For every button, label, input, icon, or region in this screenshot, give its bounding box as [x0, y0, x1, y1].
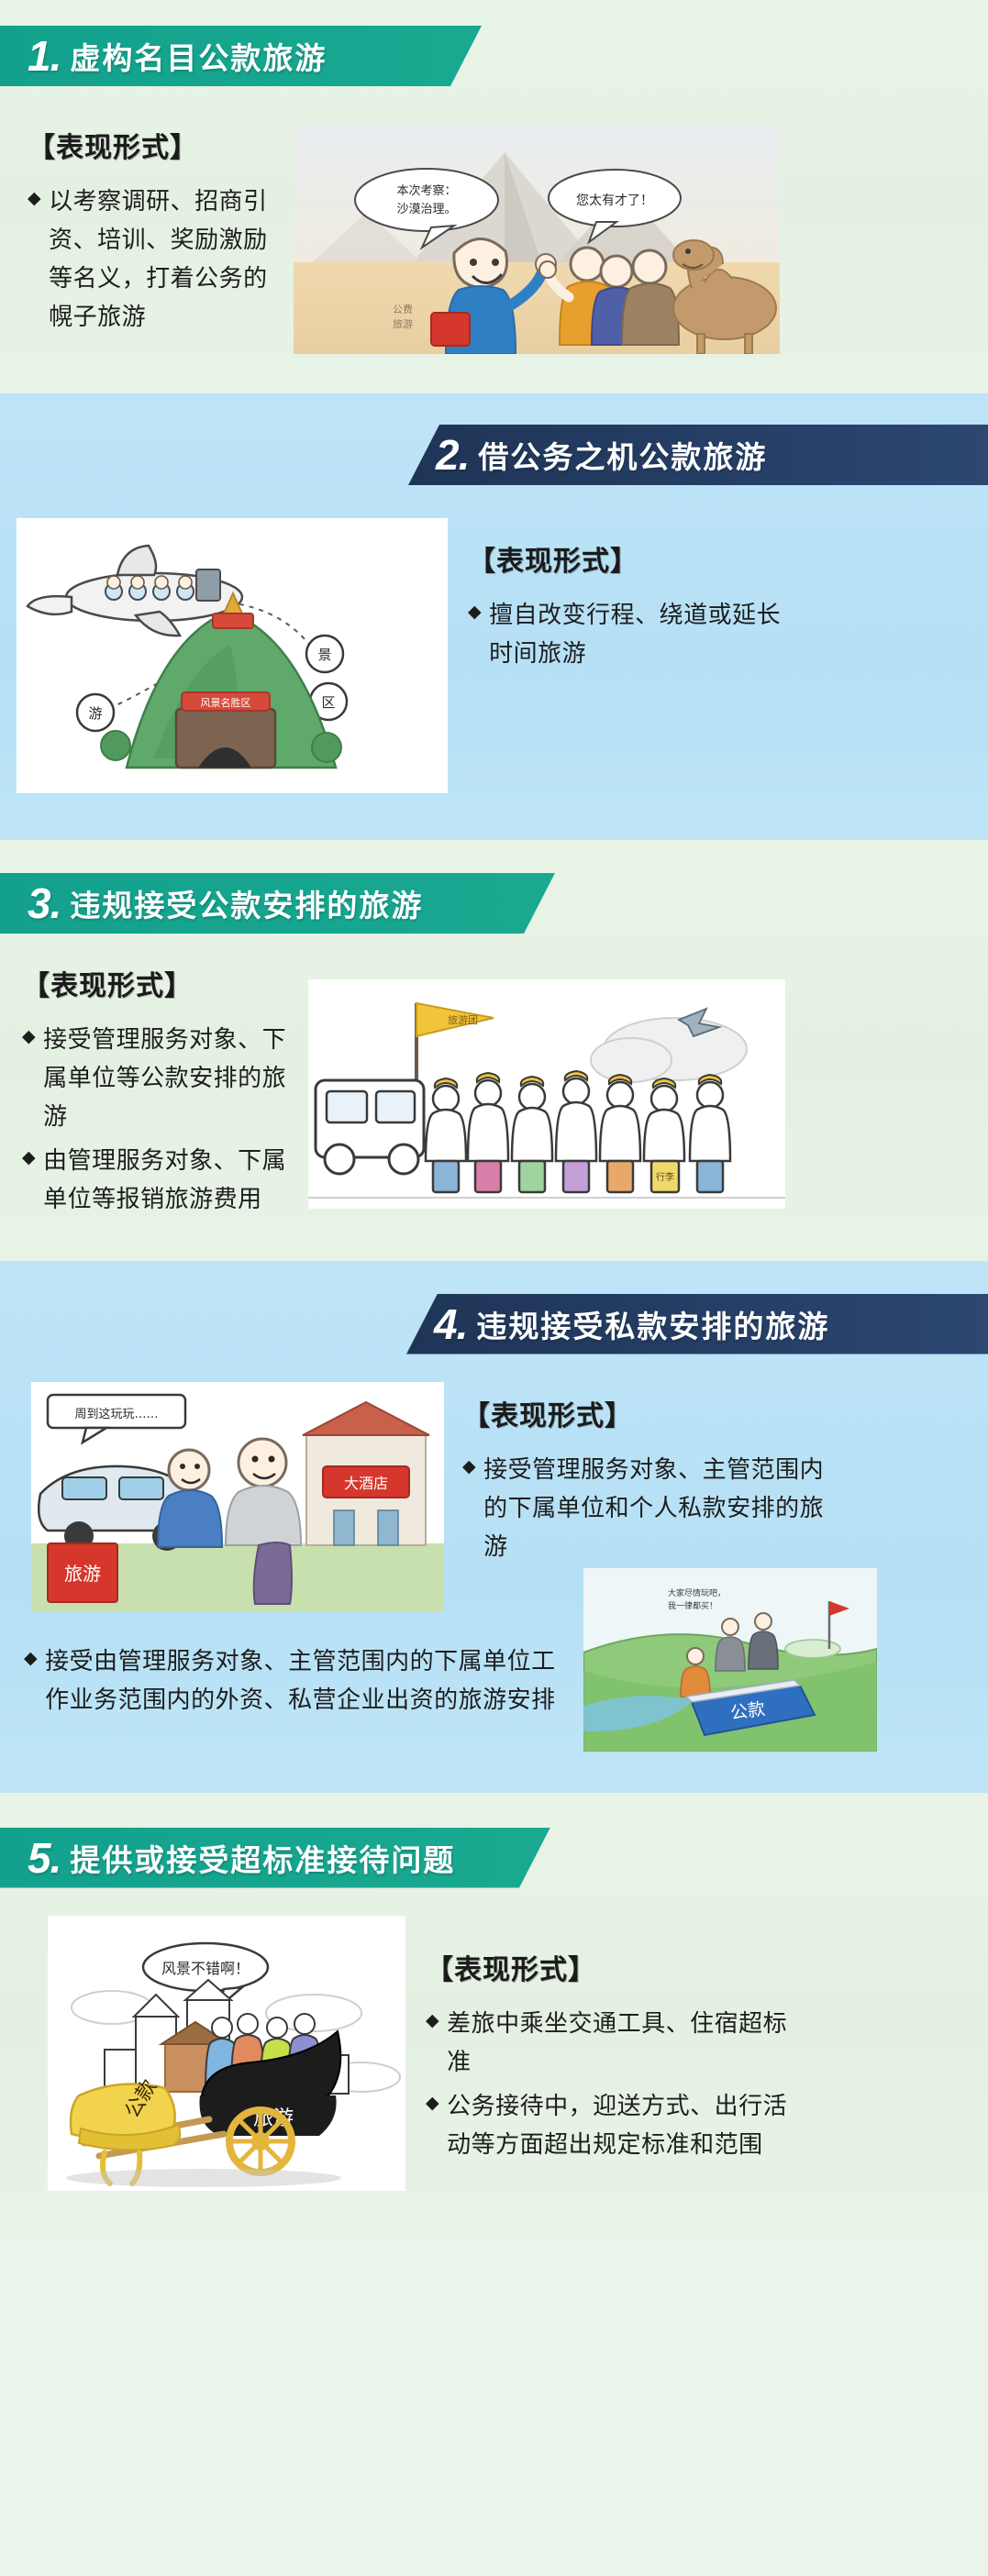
- banner-wrap-2: 2. 借公务之机公款旅游: [0, 393, 988, 485]
- section-5-bullet-text-0: 差旅中乘坐交通工具、住宿超标准: [447, 2004, 800, 2081]
- gold-ingot-rickshaw-cartoon: 风景不错啊！: [48, 1916, 405, 2191]
- section-5-banner: 5. 提供或接受超标准接待问题: [0, 1828, 550, 1888]
- banner-wrap-4: 4. 违规接受私款安排的旅游: [0, 1261, 988, 1354]
- section-1-illustration: 本次考察： 沙漠治理。 您太有才了！: [294, 125, 780, 359]
- section-4-content-bottom: ◆ 接受由管理服务对象、主管范围内的下属单位工作业务范围内的外资、私营企业出资的…: [0, 1616, 988, 1756]
- section-3-bullet-0: ◆ 接受管理服务对象、下属单位等公款安排的旅游: [22, 1020, 303, 1135]
- svg-text:旅游: 旅游: [64, 1563, 101, 1585]
- section-4-bullet-1: ◆ 接受由管理服务对象、主管范围内的下属单位工作业务范围内的外资、私营企业出资的…: [24, 1642, 574, 1719]
- section-3: 3. 违规接受公款安排的旅游 【表现形式】 ◆ 接受管理服务对象、下属单位等公款…: [0, 840, 988, 1261]
- section-5-bullet-1: ◆ 公务接待中，迎送方式、出行活动等方面超出规定标准和范围: [426, 2086, 800, 2163]
- section-3-heading: 【表现形式】: [22, 963, 303, 1003]
- section-2-title: 借公务之机公款旅游: [478, 433, 767, 477]
- svg-text:行李: 行李: [656, 1171, 674, 1183]
- diamond-bullet-icon: ◆: [24, 1642, 38, 1719]
- section-3-content: 【表现形式】 ◆ 接受管理服务对象、下属单位等公款安排的旅游 ◆ 由管理服务对象…: [0, 934, 988, 1224]
- svg-text:大家尽情玩吧，: 大家尽情玩吧，: [668, 1587, 726, 1598]
- section-1-content: 【表现形式】 ◆ 以考察调研、招商引资、培训、奖励激励等名义，打着公务的幌子旅游: [0, 86, 988, 359]
- section-2-number: 2.: [436, 434, 469, 476]
- section-3-illustration: 旅游团: [303, 963, 785, 1213]
- section-1-banner: 1. 虚构名目公款旅游: [0, 26, 482, 86]
- section-2-bullet-0: ◆ 擅自改变行程、绕道或延长时间旅游: [468, 595, 796, 672]
- section-2-heading: 【表现形式】: [468, 538, 796, 579]
- section-1-text: 【表现形式】 ◆ 以考察调研、招商引资、培训、奖励激励等名义，打着公务的幌子旅游: [0, 125, 284, 341]
- section-2: 2. 借公务之机公款旅游: [0, 393, 988, 840]
- section-5-bullet-0: ◆ 差旅中乘坐交通工具、住宿超标准: [426, 2004, 800, 2081]
- section-3-text: 【表现形式】 ◆ 接受管理服务对象、下属单位等公款安排的旅游 ◆ 由管理服务对象…: [0, 963, 303, 1224]
- section-1-title: 虚构名目公款旅游: [70, 34, 327, 78]
- section-4-title: 违规接受私款安排的旅游: [476, 1302, 829, 1346]
- svg-text:旅游: 旅游: [393, 317, 413, 330]
- banner-wrap-1: 1. 虚构名目公款旅游: [0, 0, 988, 86]
- section-5-heading: 【表现形式】: [426, 1947, 800, 1987]
- section-2-banner: 2. 借公务之机公款旅游: [408, 425, 988, 485]
- section-3-banner: 3. 违规接受公款安排的旅游: [0, 873, 555, 934]
- section-4-text-bottom: ◆ 接受由管理服务对象、主管范围内的下属单位工作业务范围内的外资、私营企业出资的…: [24, 1642, 574, 1724]
- section-1-number: 1.: [28, 35, 61, 77]
- svg-text:本次考察：: 本次考察：: [396, 183, 456, 198]
- section-1-bullet-0: ◆ 以考察调研、招商引资、培训、奖励激励等名义，打着公务的幌子旅游: [28, 182, 284, 336]
- section-5-illustration: 风景不错啊！: [0, 1916, 405, 2195]
- svg-text:公费: 公费: [393, 304, 413, 315]
- svg-text:风景名胜区: 风景名胜区: [201, 696, 251, 709]
- section-3-bullet-1: ◆ 由管理服务对象、下属单位等报销旅游费用: [22, 1141, 303, 1218]
- section-3-bullet-text-0: 接受管理服务对象、下属单位等公款安排的旅游: [43, 1020, 303, 1135]
- diamond-bullet-icon: ◆: [28, 182, 41, 336]
- diamond-bullet-icon: ◆: [22, 1141, 36, 1218]
- infographic-page: 1. 虚构名目公款旅游 【表现形式】 ◆ 以考察调研、招商引资、培训、奖励激励等…: [0, 0, 988, 2241]
- section-5-content: 风景不错啊！: [0, 1888, 988, 2195]
- section-3-number: 3.: [28, 882, 61, 924]
- section-2-illustration: 景 区 游 风景名胜区: [0, 518, 448, 798]
- svg-text:周到这玩玩……: 周到这玩玩……: [74, 1407, 158, 1421]
- svg-text:风景不错啊！: 风景不错啊！: [161, 1960, 250, 1977]
- section-5-number: 5.: [28, 1837, 61, 1879]
- section-2-content: 景 区 游 风景名胜区: [0, 485, 988, 798]
- section-5-text: 【表现形式】 ◆ 差旅中乘坐交通工具、住宿超标准 ◆ 公务接待中，迎送方式、出行…: [405, 1916, 800, 2169]
- banner-wrap-5: 5. 提供或接受超标准接待问题: [0, 1793, 988, 1888]
- svg-text:沙漠治理。: 沙漠治理。: [396, 203, 456, 216]
- section-5: 5. 提供或接受超标准接待问题 风景不错啊！: [0, 1793, 988, 2241]
- section-4-heading: 【表现形式】: [462, 1393, 829, 1433]
- section-1: 1. 虚构名目公款旅游 【表现形式】 ◆ 以考察调研、招商引资、培训、奖励激励等…: [0, 0, 988, 393]
- airplane-mountain-cartoon: 景 区 游 风景名胜区: [17, 518, 448, 793]
- section-1-bullet-text-0: 以考察调研、招商引资、培训、奖励激励等名义，打着公务的幌子旅游: [49, 182, 284, 336]
- section-2-bullet-text-0: 擅自改变行程、绕道或延长时间旅游: [489, 595, 796, 672]
- svg-text:旅游团: 旅游团: [448, 1013, 478, 1026]
- diamond-bullet-icon: ◆: [462, 1450, 476, 1565]
- section-4-illustration-bottom: 大家尽情玩吧， 我一律都买！: [583, 1568, 877, 1756]
- section-4-illustration-top: 周到这玩玩…… 大酒店: [0, 1382, 444, 1616]
- section-4-number: 4.: [434, 1303, 467, 1345]
- tour-group-bus-cartoon: 旅游团: [308, 979, 785, 1209]
- svg-text:您太有才了！: 您太有才了！: [576, 193, 653, 208]
- section-5-bullet-text-1: 公务接待中，迎送方式、出行活动等方面超出规定标准和范围: [447, 2086, 800, 2163]
- section-3-bullet-text-1: 由管理服务对象、下属单位等报销旅游费用: [43, 1141, 303, 1218]
- svg-text:游: 游: [88, 705, 102, 722]
- diamond-bullet-icon: ◆: [22, 1020, 36, 1135]
- svg-text:大酒店: 大酒店: [344, 1475, 388, 1492]
- golf-course-cartoon: 大家尽情玩吧， 我一律都买！: [583, 1568, 877, 1752]
- diamond-bullet-icon: ◆: [468, 595, 482, 672]
- section-1-heading: 【表现形式】: [28, 125, 284, 165]
- svg-text:我一律都买！: 我一律都买！: [668, 1600, 717, 1611]
- section-4: 4. 违规接受私款安排的旅游 周到这玩玩…… 大酒店: [0, 1261, 988, 1793]
- section-2-text: 【表现形式】 ◆ 擅自改变行程、绕道或延长时间旅游: [448, 518, 796, 678]
- section-5-title: 提供或接受超标准接待问题: [70, 1836, 455, 1880]
- section-4-bullet-text-1: 接受由管理服务对象、主管范围内的下属单位工作业务范围内的外资、私营企业出资的旅游…: [45, 1642, 574, 1719]
- section-4-text-top: 【表现形式】 ◆ 接受管理服务对象、主管范围内的下属单位和个人私款安排的旅游: [444, 1382, 829, 1571]
- section-3-title: 违规接受公款安排的旅游: [70, 881, 423, 925]
- banner-wrap-3: 3. 违规接受公款安排的旅游: [0, 840, 988, 934]
- section-4-bullet-text-0: 接受管理服务对象、主管范围内的下属单位和个人私款安排的旅游: [483, 1450, 829, 1565]
- svg-text:区: 区: [321, 694, 335, 711]
- diamond-bullet-icon: ◆: [426, 2004, 439, 2081]
- desert-inspection-cartoon: 本次考察： 沙漠治理。 您太有才了！: [294, 125, 780, 354]
- section-4-bullet-0: ◆ 接受管理服务对象、主管范围内的下属单位和个人私款安排的旅游: [462, 1450, 829, 1565]
- svg-text:景: 景: [317, 647, 331, 663]
- diamond-bullet-icon: ◆: [426, 2086, 439, 2163]
- hotel-invitation-cartoon: 周到这玩玩…… 大酒店: [31, 1382, 444, 1611]
- section-4-banner: 4. 违规接受私款安排的旅游: [406, 1294, 988, 1354]
